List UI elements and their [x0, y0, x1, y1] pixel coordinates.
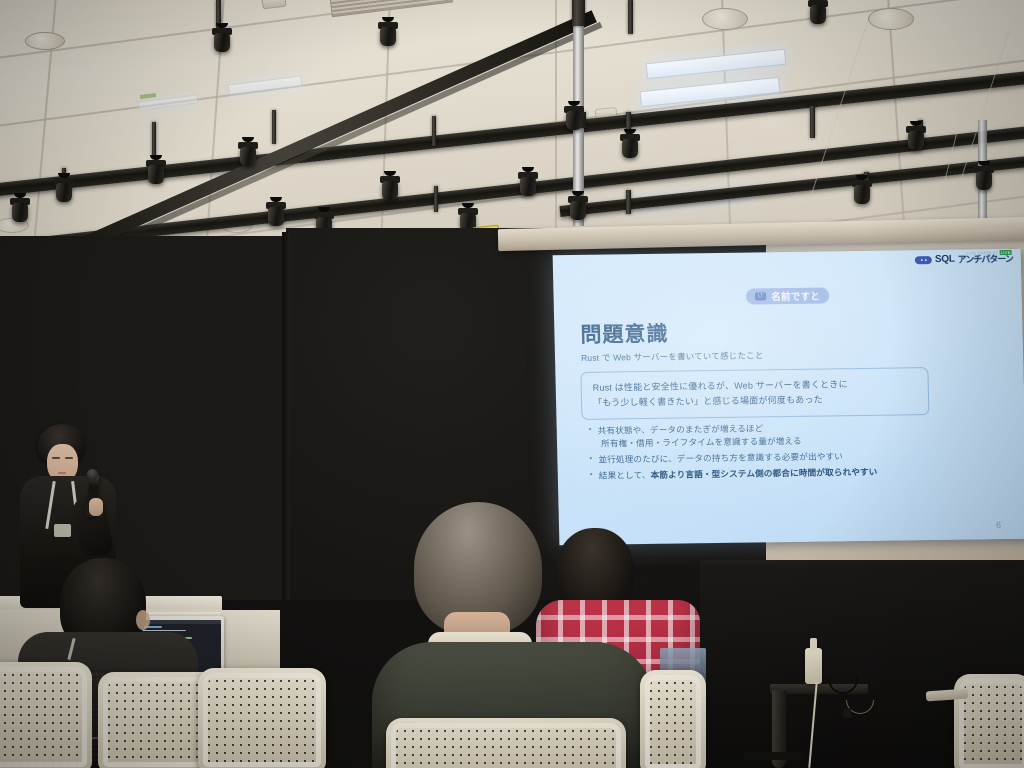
- logo-jp-text: アンチパターン: [958, 254, 1013, 264]
- ceiling-panel-light: [646, 49, 787, 80]
- attendee-ear: [136, 610, 150, 630]
- truss-hanger-stem: [810, 106, 815, 138]
- chair: [0, 662, 92, 768]
- ceiling-panel-light: [228, 76, 303, 96]
- chair: [198, 668, 326, 768]
- smoke-detector-icon: [261, 0, 286, 9]
- conference-room-photo: LIVE OVERLAY LIVE SQL アンチパターン LT 名前ですと 問…: [0, 0, 1024, 768]
- slide-bullet-list: 共有状態や、データのまたぎが増えるほど 所有権・借用・ライフタイムを意識する量が…: [589, 420, 960, 486]
- presenter-hand: [89, 498, 103, 516]
- microphone-head: [87, 469, 98, 480]
- bullet-main: 結果として、: [599, 470, 651, 481]
- adapter-prong: [810, 638, 817, 650]
- side-stand-foot: [744, 752, 804, 760]
- bullet-main: 並行処理のたびに、データの持ち方を意識する必要が出やすい: [598, 451, 843, 464]
- truss-hanger-stem: [628, 0, 633, 34]
- projection-screen: LIVE OVERLAY LIVE SQL アンチパターン LT 名前ですと 問…: [553, 249, 1024, 545]
- slide-page-number: 6: [996, 520, 1001, 530]
- logo-sql-text: SQL: [935, 255, 955, 265]
- bullet-item: 並行処理のたびに、データの持ち方を意識する必要が出やすい: [589, 448, 959, 466]
- bullet-item: 共有状態や、データのまたぎが増えるほど 所有権・借用・ライフタイムを意識する量が…: [589, 420, 960, 451]
- presenter-badge: [54, 524, 71, 537]
- wall-corner-shadow: [282, 232, 290, 662]
- presenter-eye-left: [52, 457, 60, 459]
- bullet-main: 共有状態や、データのまたぎが増えるほど: [598, 423, 764, 435]
- truss-hanger-stem: [626, 190, 631, 214]
- green-tape-marker: [140, 93, 156, 99]
- chair: [640, 670, 706, 768]
- logo-mark-icon: [915, 256, 932, 264]
- desk-panel-far: [220, 610, 280, 670]
- cord-connector: [843, 708, 851, 718]
- slide-badge-prefix: LT: [755, 292, 766, 300]
- power-adapter: [805, 648, 822, 684]
- slide-callout-box: Rust は性能と安全性に優れるが、Web サーバーを書くときに 「もう少し軽く…: [580, 367, 929, 420]
- bullet-emphasis: 本筋より言語・型システム側の都合に時間が取られやすい: [650, 466, 877, 479]
- truss-hanger-stem: [272, 110, 276, 144]
- chair: [386, 718, 626, 768]
- truss-hanger-stem: [152, 122, 156, 158]
- ceiling-speaker-icon: [702, 8, 748, 30]
- slide-lead-text: Rust で Web サーバーを書いていて感じたこと: [581, 349, 764, 364]
- ceiling-speaker-icon: [868, 8, 914, 30]
- slide-badge-title: 名前ですと: [771, 289, 820, 304]
- truss-support-pole: [572, 0, 585, 26]
- truss-hanger-stem: [432, 116, 436, 146]
- slide-title: 問題意識: [580, 318, 669, 349]
- bullet-sub: 所有権・借用・ライフタイムを意識する量が増える: [598, 433, 959, 451]
- bullet-item: 結果として、本筋より言語・型システム側の都合に時間が取られやすい: [590, 464, 960, 482]
- event-logo: LIVE OVERLAY LIVE SQL アンチパターン: [915, 254, 1013, 265]
- ceiling-speaker-icon: [25, 32, 65, 50]
- slide-badge: LT 名前ですと: [746, 287, 829, 304]
- truss-hanger-stem: [434, 186, 438, 212]
- presentation-slide: LIVE OVERLAY LIVE SQL アンチパターン LT 名前ですと 問…: [553, 249, 1024, 545]
- presenter-mouth: [58, 472, 66, 474]
- presenter-eye-right: [65, 457, 73, 459]
